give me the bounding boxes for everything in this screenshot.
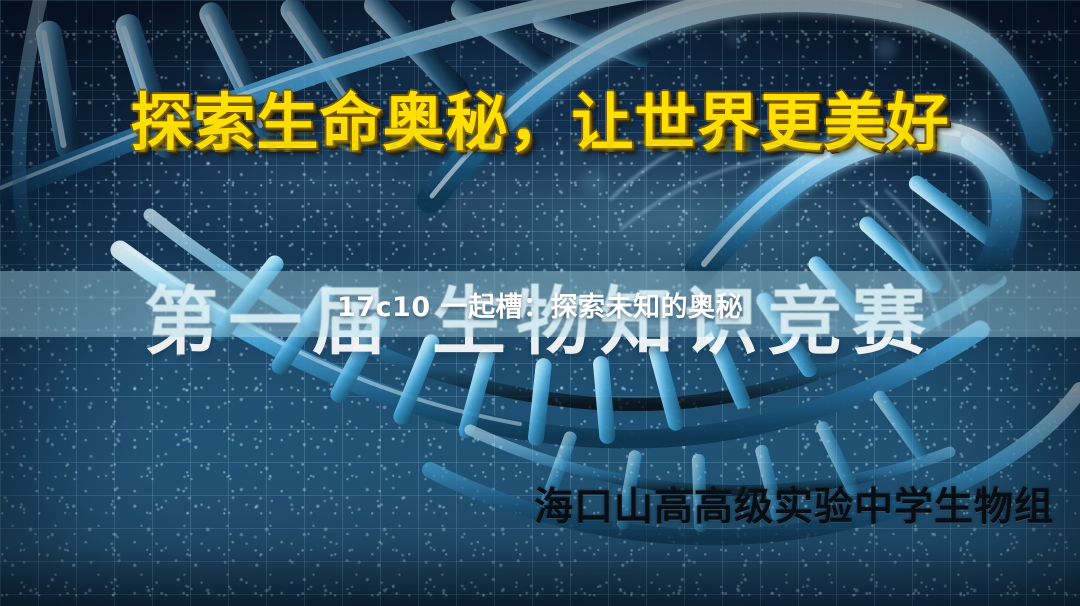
caption-text: 17c10 一起槽：探索未知的奥秘 bbox=[0, 271, 1080, 337]
slide-canvas: 第一届 生物知识竞赛 第一届 生物知识竞赛 探索生命奥秘，让世界更美好 探索生命… bbox=[0, 0, 1080, 606]
